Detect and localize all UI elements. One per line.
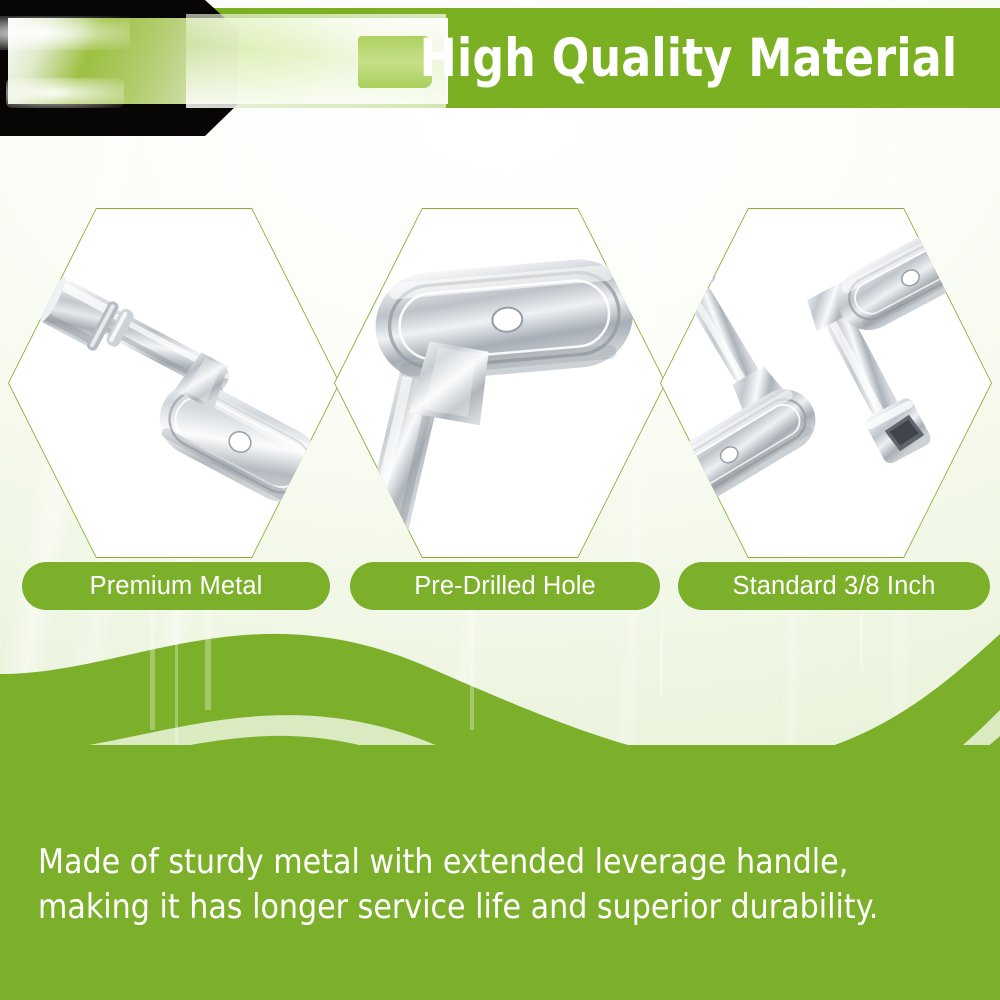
product-infographic: High Quality Material [0,0,1000,1000]
feature-label-standard-3-8-inch[interactable]: Standard 3/8 Inch [678,562,990,610]
feature-label-premium-metal[interactable]: Premium Metal [22,562,330,610]
two-water-meter-keys-socket-view-image [660,208,992,558]
feature-hexagon-0 [8,208,340,558]
page-title: High Quality Material [70,8,1000,108]
feature-hexagon-2 [660,208,992,558]
feature-label-pre-drilled-hole[interactable]: Pre-Drilled Hole [350,562,660,610]
feature-image-row [0,208,1000,558]
t-handle-closeup-drilled-hole-image [334,208,666,558]
description-text: Made of sturdy metal with extended lever… [38,840,968,929]
feature-hexagon-1 [334,208,666,558]
t-handle-water-meter-key-full-view-image [8,208,340,558]
